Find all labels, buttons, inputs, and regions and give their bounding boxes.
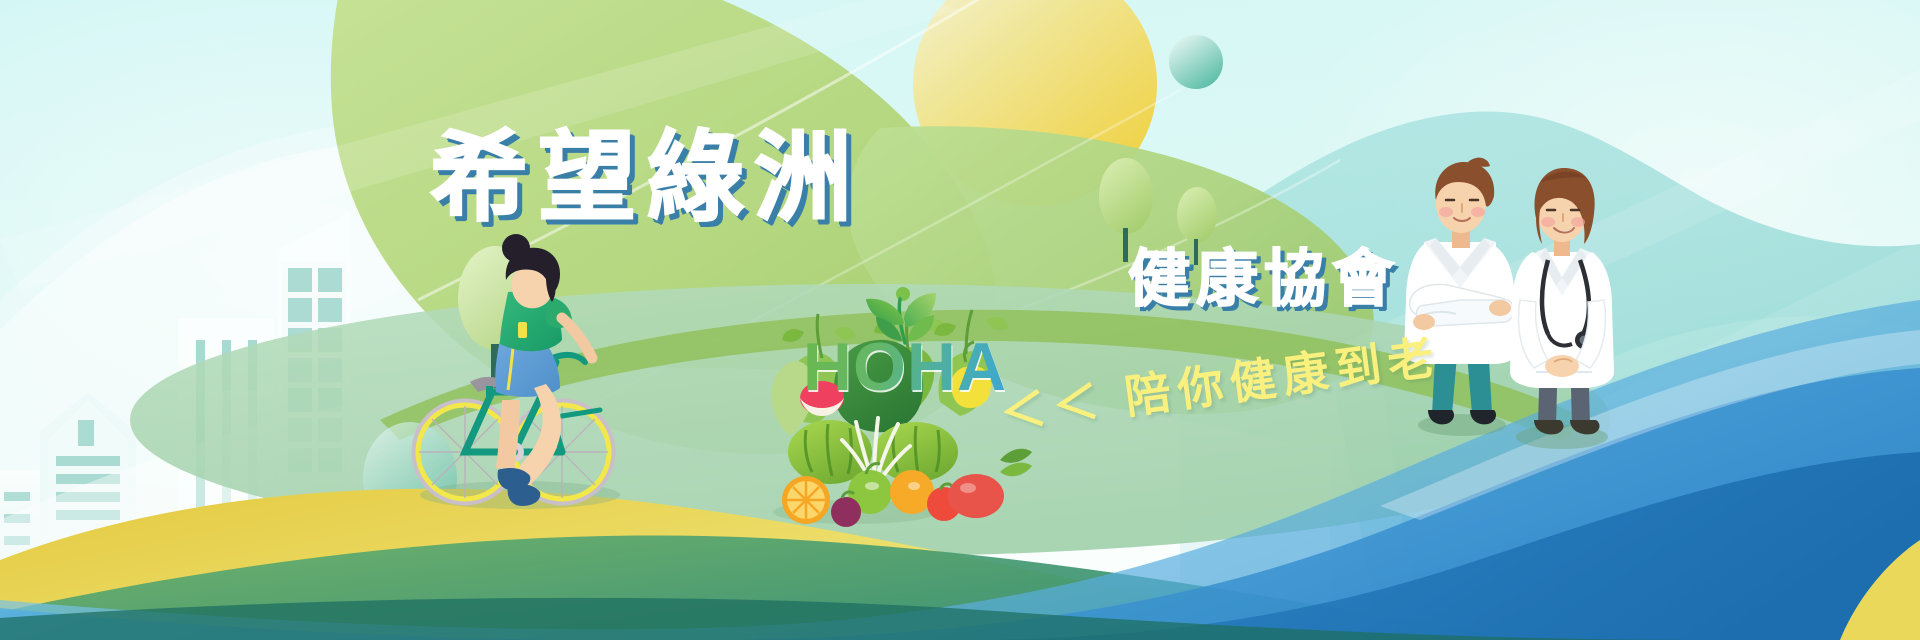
- hoha-logo: HOHA: [790, 285, 1020, 415]
- doctor-male: [1404, 158, 1516, 436]
- subtitle: 健康協會: [1128, 228, 1400, 318]
- hoha-wordmark: HOHA: [790, 333, 1020, 401]
- page-title: 希望綠洲: [430, 128, 862, 228]
- health-association-banner: HOHA 希望綠洲 健康協會 ＜＜ 陪你健康到老: [0, 0, 1920, 640]
- doctor-female: [1510, 168, 1614, 449]
